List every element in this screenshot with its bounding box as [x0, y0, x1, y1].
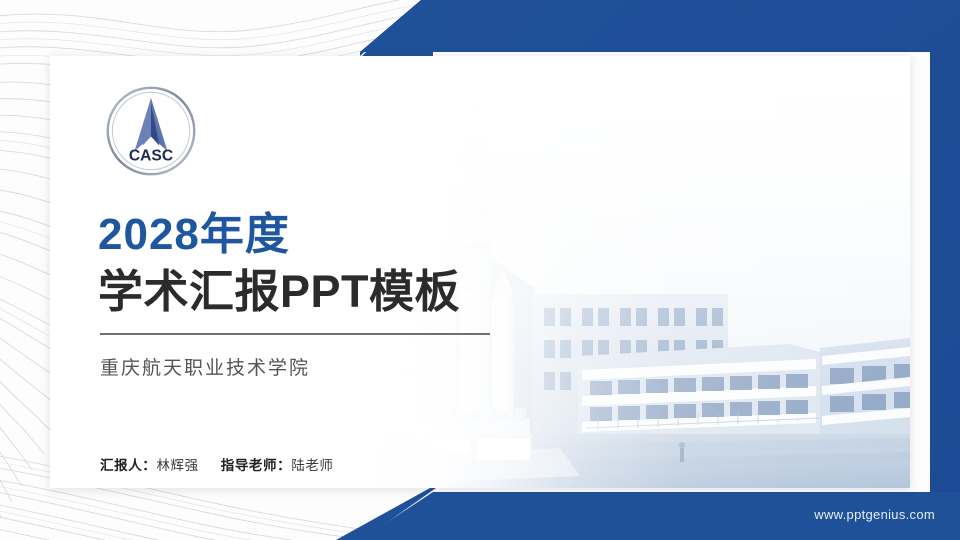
casc-logo-text: CASC: [129, 147, 173, 164]
title-year: 2028年度: [98, 211, 568, 259]
casc-logo-icon: CASC: [105, 85, 197, 177]
title-main: 学术汇报PPT模板: [98, 265, 568, 320]
slide-canvas: CASC 2028年度 学术汇报PPT模板 重庆航天职业技术学院 汇报人：林辉强…: [0, 0, 960, 540]
footer-url[interactable]: www.pptgenius.com: [814, 507, 935, 522]
reporter-name: 林辉强: [156, 458, 198, 473]
advisor-name: 陆老师: [291, 458, 333, 473]
title-divider: [100, 333, 490, 335]
title-block: 2028年度 学术汇报PPT模板 重庆航天职业技术学院: [98, 211, 568, 380]
institution-subtitle: 重庆航天职业技术学院: [100, 353, 568, 380]
presenter-line: 汇报人：林辉强指导老师：陆老师: [100, 454, 334, 474]
reporter-label: 汇报人：: [100, 458, 156, 473]
advisor-label: 指导老师：: [221, 458, 292, 473]
content-card: CASC 2028年度 学术汇报PPT模板 重庆航天职业技术学院 汇报人：林辉强…: [50, 56, 910, 488]
